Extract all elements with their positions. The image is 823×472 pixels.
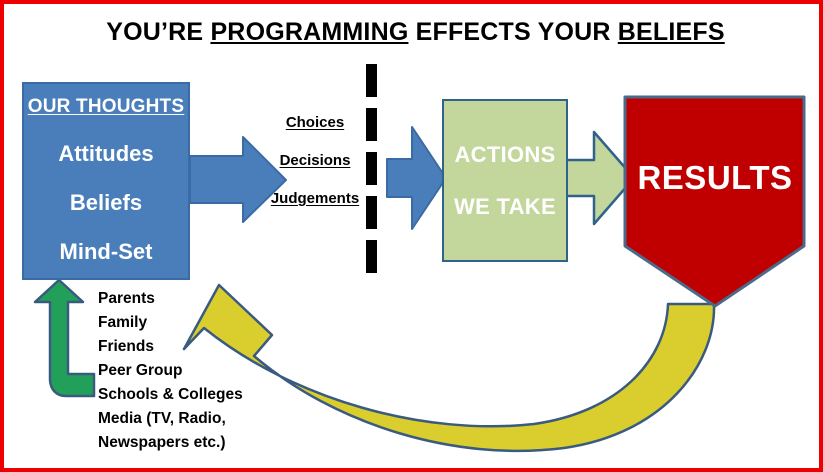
thoughts-heading: OUR THOUGHTS — [28, 96, 185, 118]
results-label: RESULTS — [625, 159, 805, 197]
green-bent-arrow-up — [35, 280, 94, 396]
middle-labels-group: Choices Decisions Judgements — [259, 114, 371, 228]
influence-item-schools: Schools & Colleges — [98, 383, 243, 407]
thoughts-box: OUR THOUGHTS Attitudes Beliefs Mind-Set — [22, 82, 190, 280]
title-part-programming: PROGRAMMING — [210, 18, 408, 46]
page-title: YOU’RE PROGRAMMING EFFECTS YOUR BELIEFS — [4, 18, 823, 47]
blue-arrow-right-2 — [387, 127, 446, 229]
middle-label-decisions: Decisions — [259, 152, 371, 169]
actions-line-1: ACTIONS — [454, 142, 555, 168]
title-part-beliefs: BELIEFS — [618, 18, 725, 46]
influences-list: Parents Family Friends Peer Group School… — [98, 287, 243, 455]
title-part-1: YOU’RE — [106, 18, 210, 46]
influence-item-peer-group: Peer Group — [98, 359, 243, 383]
green-arrow-right — [560, 132, 634, 224]
thoughts-item-attitudes: Attitudes — [58, 141, 153, 167]
middle-label-judgements: Judgements — [259, 190, 371, 207]
yellow-curved-feedback-arrow — [184, 285, 714, 451]
influence-item-media-2: Newspapers etc.) — [98, 431, 243, 455]
title-part-3: EFFECTS YOUR — [408, 18, 617, 46]
influence-item-parents: Parents — [98, 287, 243, 311]
influence-item-family: Family — [98, 311, 243, 335]
results-shield — [625, 97, 804, 306]
thoughts-item-beliefs: Beliefs — [70, 190, 142, 216]
middle-label-choices: Choices — [259, 114, 371, 131]
influence-item-friends: Friends — [98, 335, 243, 359]
thoughts-item-mindset: Mind-Set — [60, 239, 153, 265]
actions-box: ACTIONS WE TAKE — [442, 99, 568, 262]
diagram-canvas: YOU’RE PROGRAMMING EFFECTS YOUR BELIEFS … — [0, 0, 823, 472]
actions-line-2: WE TAKE — [454, 194, 556, 220]
influence-item-media-1: Media (TV, Radio, — [98, 407, 243, 431]
